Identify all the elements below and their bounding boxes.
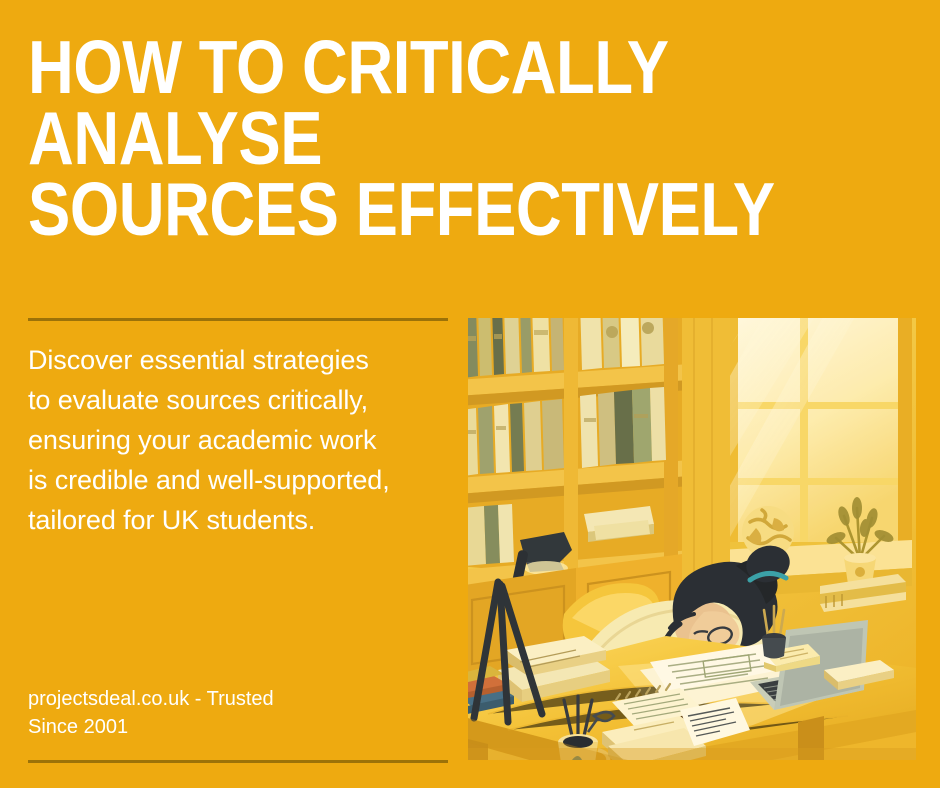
divider-top [28, 318, 448, 321]
study-scene-illustration [468, 318, 916, 760]
headline-line-3: SOURCES EFFECTIVELY [28, 174, 780, 245]
footer-attribution: projectsdeal.co.uk - Trusted Since 2001 [28, 685, 448, 741]
study-scene-svg [468, 318, 916, 760]
headline-line-2: ANALYSE [28, 103, 780, 174]
blurb-line-4: is credible and well-supported, [28, 460, 452, 500]
headline-line-1: HOW TO CRITICALLY [28, 32, 780, 103]
poster-canvas: HOW TO CRITICALLY ANALYSE SOURCES EFFECT… [0, 0, 940, 788]
blurb-line-5: tailored for UK students. [28, 500, 452, 540]
footer-line-1: projectsdeal.co.uk - Trusted [28, 685, 448, 713]
divider-bottom [28, 760, 448, 763]
blurb-text: Discover essential strategies to evaluat… [28, 340, 452, 540]
page-title: HOW TO CRITICALLY ANALYSE SOURCES EFFECT… [28, 32, 918, 245]
blurb-line-2: to evaluate sources critically, [28, 380, 452, 420]
footer-line-2: Since 2001 [28, 713, 448, 741]
blurb-line-1: Discover essential strategies [28, 340, 452, 380]
blurb-line-3: ensuring your academic work [28, 420, 452, 460]
